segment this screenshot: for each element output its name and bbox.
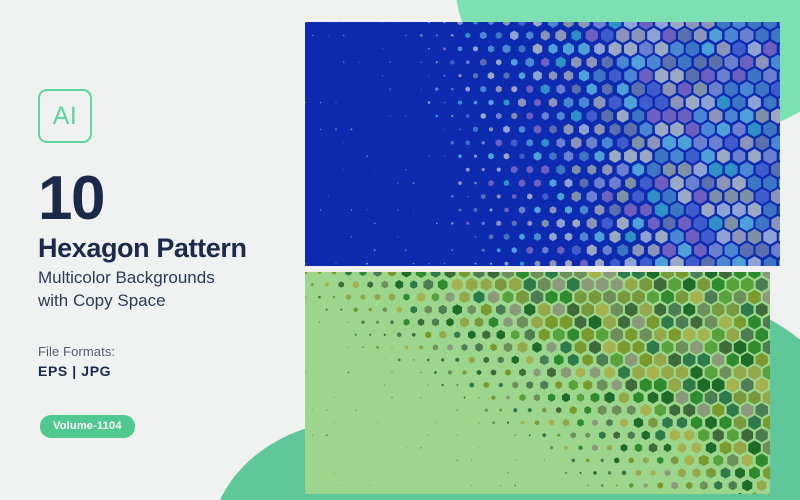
blue-hexagon-preview: [305, 22, 780, 266]
item-count: 10: [38, 168, 104, 230]
volume-badge: Volume-1104: [40, 415, 135, 438]
green-hexagon-svg: [305, 272, 770, 494]
poster-canvas: AI 10 Hexagon Pattern Multicolor Backgro…: [0, 0, 800, 500]
info-column: AI 10 Hexagon Pattern Multicolor Backgro…: [38, 0, 298, 500]
green-hexagon-preview: [305, 272, 770, 494]
ai-format-badge: AI: [38, 89, 92, 143]
file-formats-label: File Formats:: [38, 344, 115, 359]
page-subtitle: Multicolor Backgroundswith Copy Space: [38, 267, 288, 313]
blue-hexagon-svg: [305, 22, 780, 266]
ai-format-badge-label: AI: [53, 104, 78, 129]
file-formats-value: EPS | JPG: [38, 363, 111, 379]
page-title: Hexagon Pattern: [38, 234, 247, 264]
